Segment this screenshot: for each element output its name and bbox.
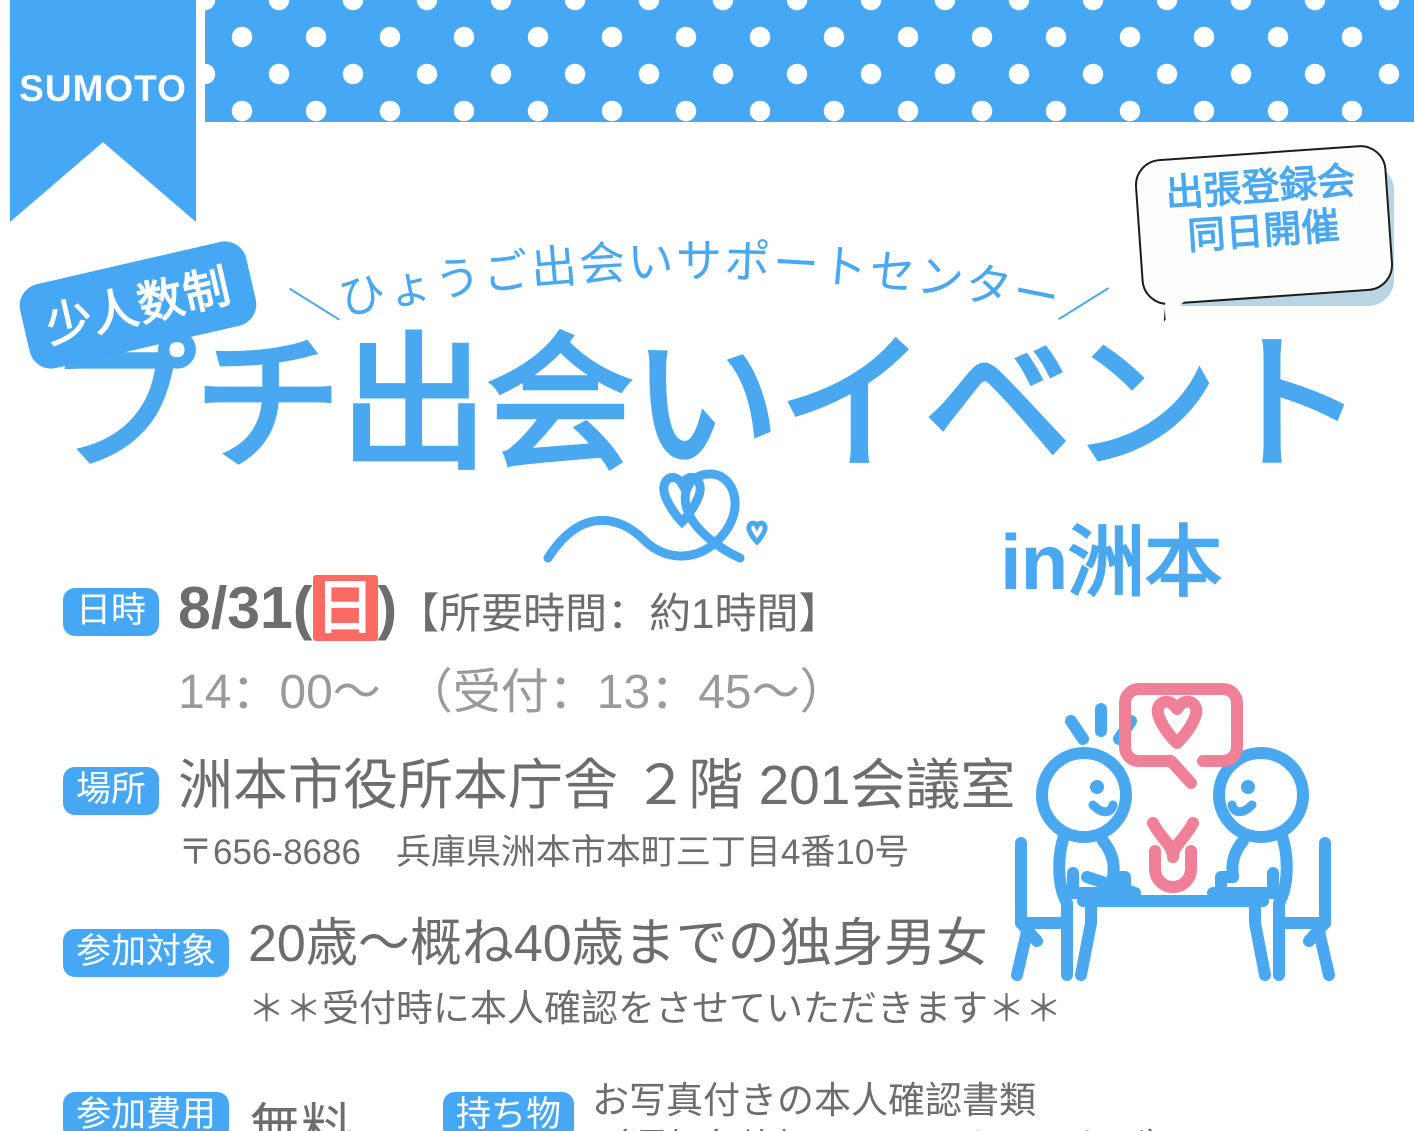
venue-address: 〒656-8686 兵庫県洲本市本町三丁目4番10号 xyxy=(178,824,1015,875)
date-line: 8/31(日)【所要時間：約1時間】 xyxy=(178,578,848,640)
date-suffix: ) xyxy=(378,575,398,641)
sumoto-ribbon xyxy=(10,0,196,222)
sumoto-ribbon-label: SUMOTO xyxy=(10,68,196,110)
date-weekday: 日 xyxy=(313,575,378,641)
venue-content: 洲本市役所本庁舎 ２階 201会議室 〒656-8686 兵庫県洲本市本町三丁目… xyxy=(178,757,1015,875)
date-label-badge: 日時 xyxy=(63,588,159,636)
info-row-venue: 場所 洲本市役所本庁舎 ２階 201会議室 〒656-8686 兵庫県洲本市本町… xyxy=(63,757,1000,875)
target-label-badge: 参加対象 xyxy=(63,929,229,977)
bring-line-2: （運転免許証、マイナカードなど） xyxy=(592,1125,1183,1131)
couple-at-table-illustration xyxy=(995,655,1395,1005)
target-value: 20歳～概ね40歳までの独身男女 xyxy=(248,917,1062,972)
venue-name: 洲本市役所本庁舎 ２階 201会議室 xyxy=(178,757,1015,815)
svg-text:＼ひょうご出会いサポートセンター／: ＼ひょうご出会いサポートセンター／ xyxy=(287,235,1114,336)
date-prefix: 8/31( xyxy=(178,575,312,641)
fee-label-badge: 参加費用 xyxy=(63,1092,229,1131)
info-row-fee-bring: 参加費用 無料 持ち物 お写真付きの本人確認書類 （運転免許証、マイナカードなど… xyxy=(63,1078,1000,1131)
fee-value: 無料 xyxy=(249,1086,353,1131)
date-content: 8/31(日)【所要時間：約1時間】 14：00～ （受付：13：45～） xyxy=(178,578,848,722)
info-row-date: 日時 8/31(日)【所要時間：約1時間】 14：00～ （受付：13：45～） xyxy=(63,578,1000,722)
heart-flourish-icon xyxy=(540,440,880,580)
registration-speech-bubble: 出張登録会 同日開催 xyxy=(1138,152,1394,306)
tagline-text: ＼ひょうご出会いサポートセンター／ xyxy=(287,235,1114,336)
bring-label-badge: 持ち物 xyxy=(443,1092,574,1131)
bubble-text: 出張登録会 同日開催 xyxy=(1135,157,1389,262)
location-suffix: in洲本 xyxy=(1000,500,1221,612)
date-time: 14：00～ （受付：13：45～） xyxy=(178,652,848,722)
info-row-target: 参加対象 20歳～概ね40歳までの独身男女 ＊＊受付時に本人確認をさせていただき… xyxy=(63,917,1000,1033)
bring-line-1: お写真付きの本人確認書類 xyxy=(592,1078,1183,1124)
bring-content: お写真付きの本人確認書類 （運転免許証、マイナカードなど） xyxy=(592,1078,1183,1131)
polka-dot-band xyxy=(205,0,1414,122)
info-section: 日時 8/31(日)【所要時間：約1時間】 14：00～ （受付：13：45～）… xyxy=(0,578,1000,1131)
target-content: 20歳～概ね40歳までの独身男女 ＊＊受付時に本人確認をさせていただきます＊＊ xyxy=(248,917,1062,1033)
flyer-page: SUMOTO ＼ひょうご出会いサポートセンター／ 少人数制 出張登録会 同日開催… xyxy=(0,0,1414,1131)
target-note: ＊＊受付時に本人確認をさせていただきます＊＊ xyxy=(248,978,1062,1032)
date-duration: 【所要時間：約1時間】 xyxy=(397,590,840,637)
venue-label-badge: 場所 xyxy=(63,767,159,815)
